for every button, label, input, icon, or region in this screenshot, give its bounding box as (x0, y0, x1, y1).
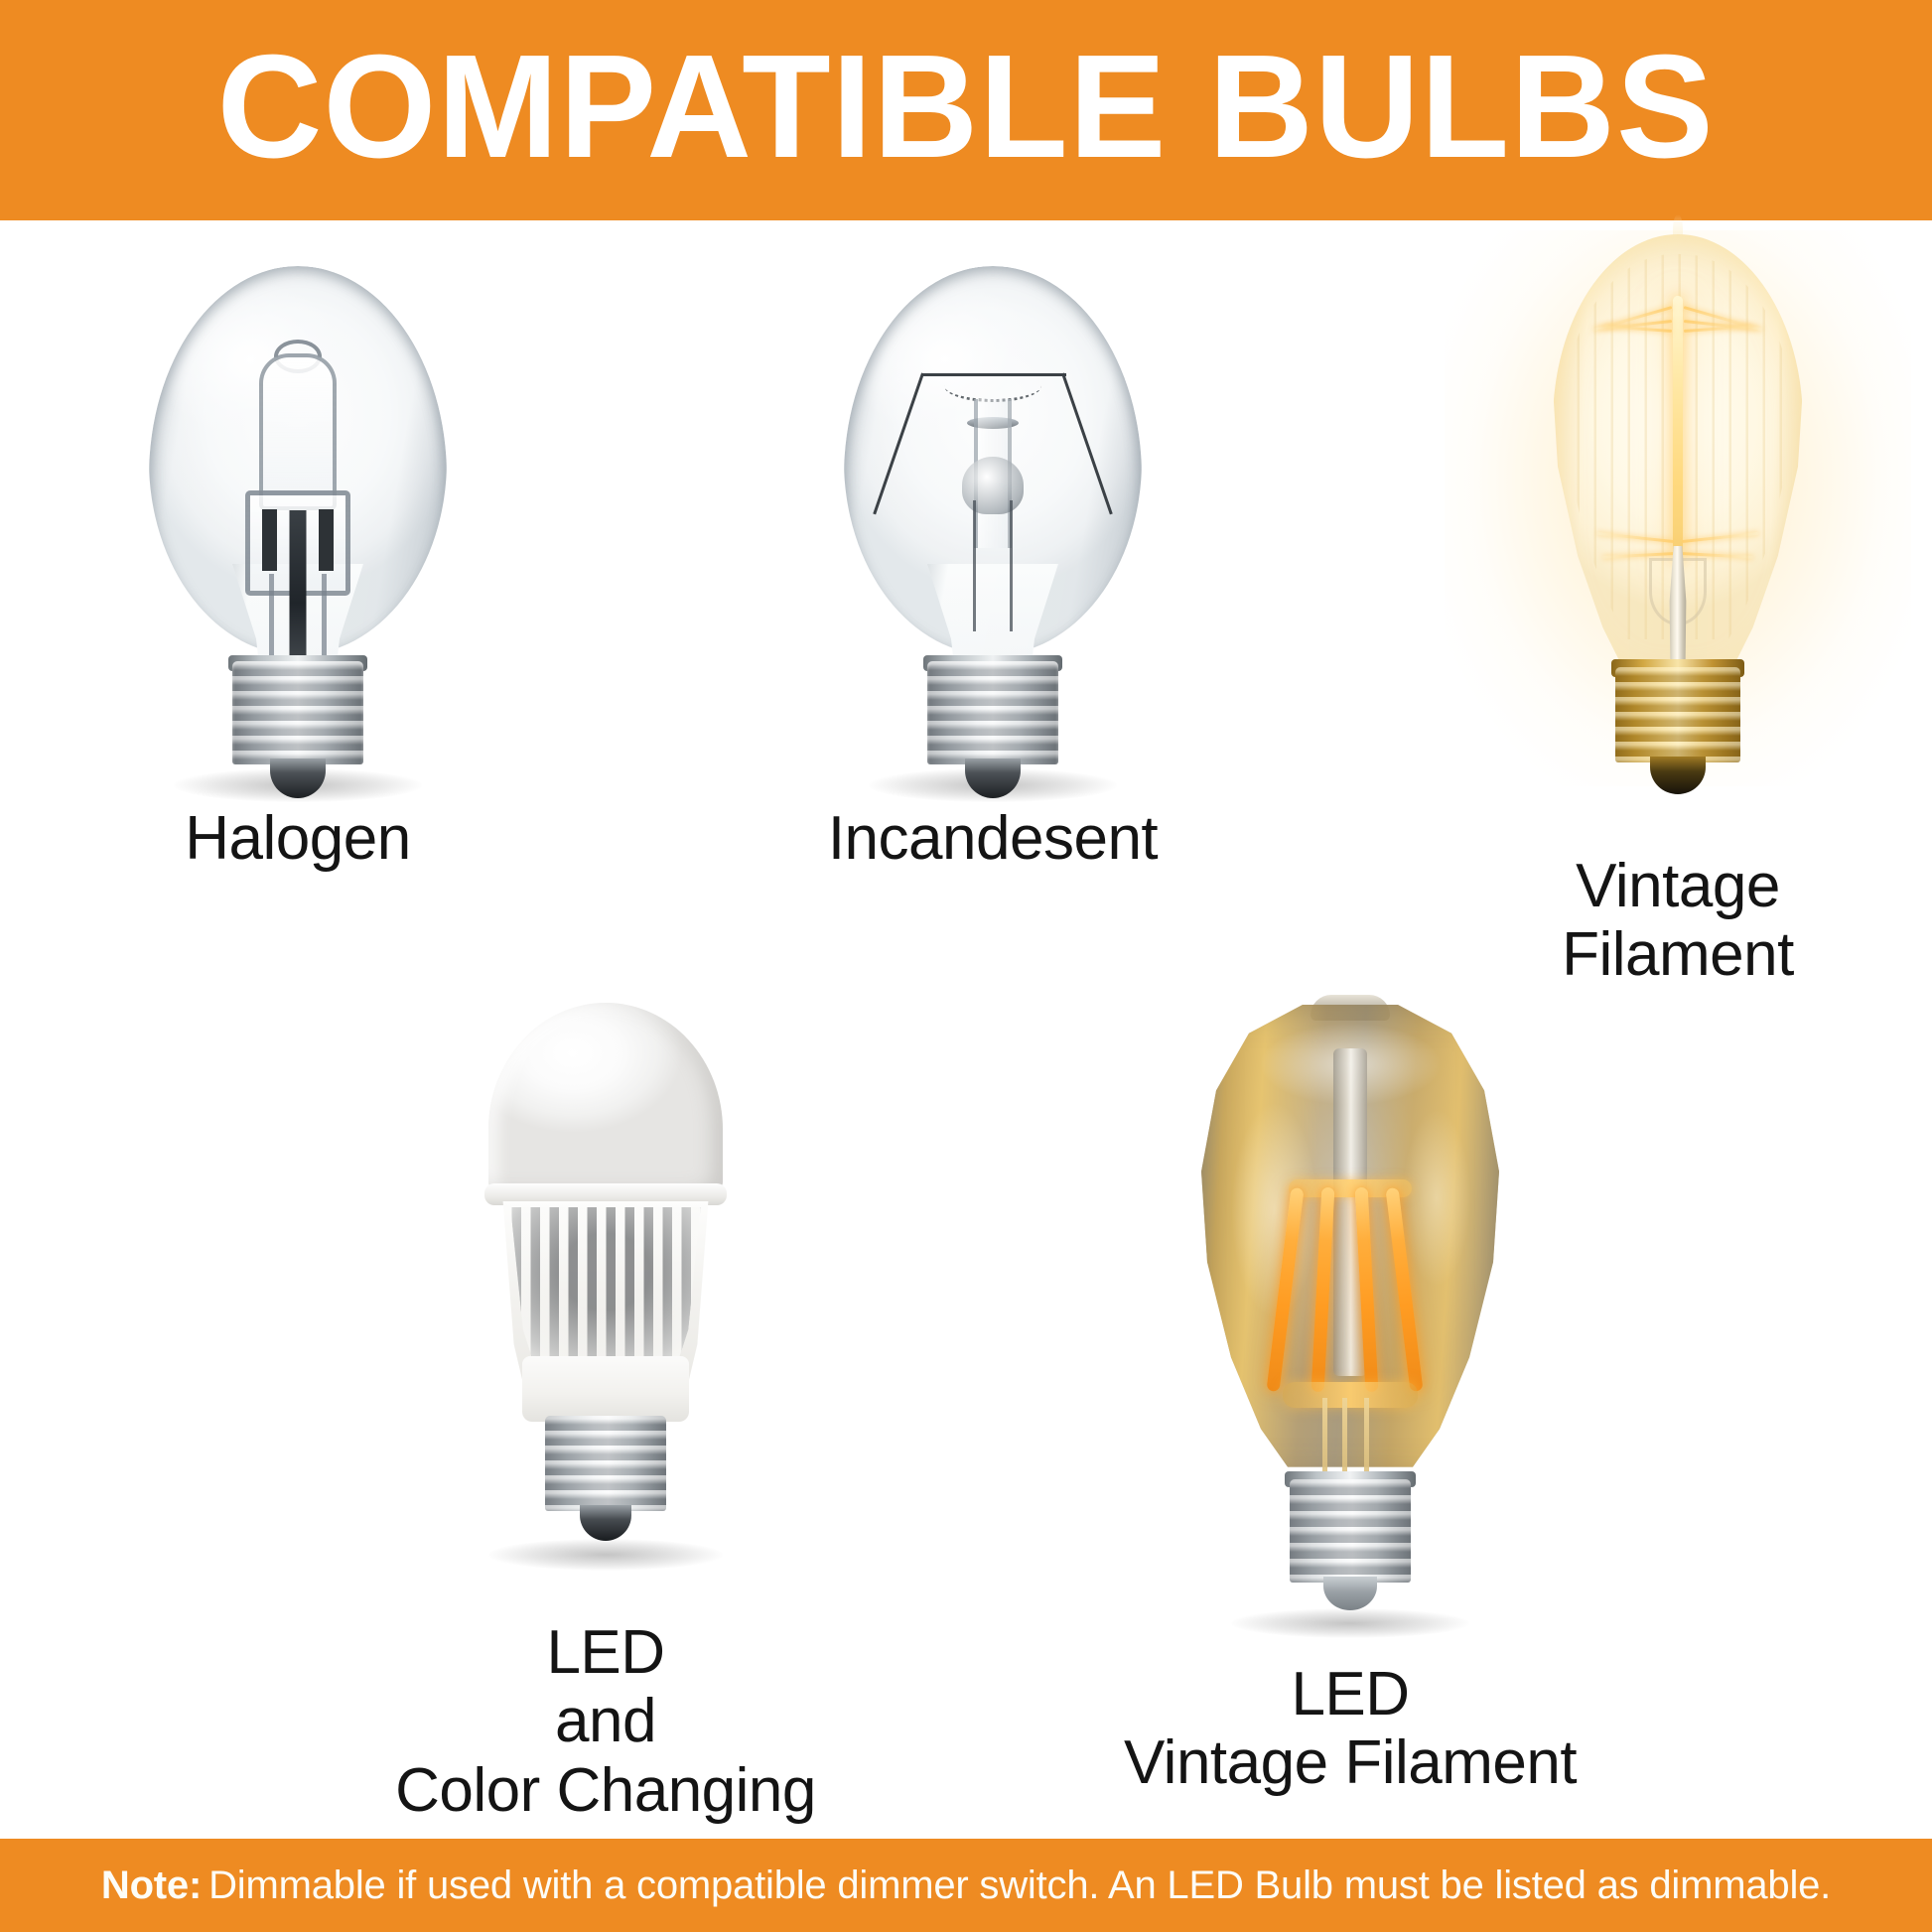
amber-st64-led-filament-bulb-icon (1201, 993, 1499, 1628)
bulb-cell-led-vintage-filament: LED Vintage Filament (1112, 993, 1588, 1798)
bulb-label-vintage-filament: Vintage Filament (1562, 852, 1794, 990)
glowing-st64-vintage-filament-bulb-icon (1553, 230, 1803, 826)
bulb-cell-vintage-filament: Vintage Filament (1440, 230, 1916, 990)
page-title: COMPATIBLE BULBS (217, 34, 1715, 181)
bulb-label-incandescent: Incandesent (828, 804, 1158, 873)
header-banner: COMPATIBLE BULBS (0, 0, 1932, 220)
bulb-cell-led-color-changing: LED and Color Changing (367, 1003, 844, 1825)
bulb-label-led-color-changing: LED and Color Changing (395, 1618, 816, 1825)
footer-note-banner: Note:Dimmable if used with a compatible … (0, 1839, 1932, 1932)
bulb-cell-halogen: Halogen (60, 266, 536, 873)
clear-a19-halogen-bulb-icon (149, 266, 447, 782)
bulb-cell-incandescent: Incandesent (755, 266, 1231, 873)
bulb-label-led-vintage-filament: LED Vintage Filament (1124, 1660, 1577, 1798)
footer-note: Note:Dimmable if used with a compatible … (101, 1865, 1831, 1905)
footer-note-label: Note: (101, 1863, 202, 1907)
footer-note-text: Dimmable if used with a compatible dimme… (208, 1863, 1831, 1907)
white-led-a-lamp-heatsink-bulb-icon (467, 1003, 745, 1559)
bulb-label-halogen: Halogen (185, 804, 410, 873)
clear-a19-incandescent-bulb-icon (844, 266, 1142, 782)
compatible-bulbs-infographic: COMPATIBLE BULBS Halogen (0, 0, 1932, 1932)
